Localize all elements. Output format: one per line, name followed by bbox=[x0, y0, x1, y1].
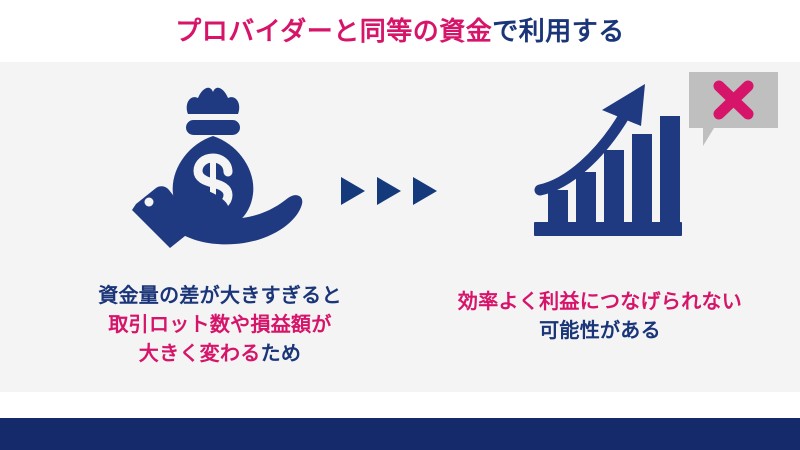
slide-title-bar: プロバイダーと同等の資金で利用する bbox=[0, 0, 800, 62]
caption-right-line-1: 効率よく利益につなげられない bbox=[420, 288, 780, 317]
footer-navy-bar bbox=[0, 418, 800, 450]
page-title-segment-navy: で利用する bbox=[492, 16, 625, 46]
caption-left-line-3: 大きく変わるため bbox=[40, 340, 400, 369]
triple-right-arrow bbox=[341, 176, 461, 206]
caption-left-line-3-pink: 大きく変わる bbox=[139, 343, 261, 365]
page-title-segment-pink: プロバイダーと同等の資金 bbox=[175, 16, 492, 46]
chart-bar-2 bbox=[576, 172, 596, 222]
right-arrow-icon-3 bbox=[413, 177, 437, 205]
chart-bar-1 bbox=[548, 190, 568, 222]
caption-left-line-3-navy: ため bbox=[261, 343, 302, 365]
caption-left-line-1: 資金量の差が大きすぎると bbox=[40, 282, 400, 311]
caption-left: 資金量の差が大きすぎると 取引ロット数や損益額が 大きく変わるため bbox=[40, 282, 400, 369]
right-arrow-icon-2 bbox=[377, 177, 401, 205]
growth-bar-chart-icon bbox=[528, 80, 688, 250]
slide-root: プロバイダーと同等の資金で利用する bbox=[0, 0, 800, 450]
caption-left-line-2: 取引ロット数や損益額が bbox=[40, 311, 400, 340]
hand-holding-money-bag-icon bbox=[118, 78, 308, 248]
chart-bar-4 bbox=[632, 134, 652, 222]
caption-right-line-2: 可能性がある bbox=[420, 317, 780, 346]
chart-bar-5 bbox=[660, 116, 680, 222]
bubble-shape bbox=[689, 72, 778, 146]
right-arrow-icon-1 bbox=[341, 177, 365, 205]
speech-bubble-x bbox=[689, 72, 778, 146]
caption-right: 効率よく利益につなげられない 可能性がある bbox=[420, 288, 780, 346]
chart-bar-3 bbox=[604, 150, 624, 222]
footer-white-gap bbox=[0, 392, 800, 418]
chart-baseline bbox=[534, 222, 682, 236]
page-title: プロバイダーと同等の資金で利用する bbox=[175, 18, 624, 44]
